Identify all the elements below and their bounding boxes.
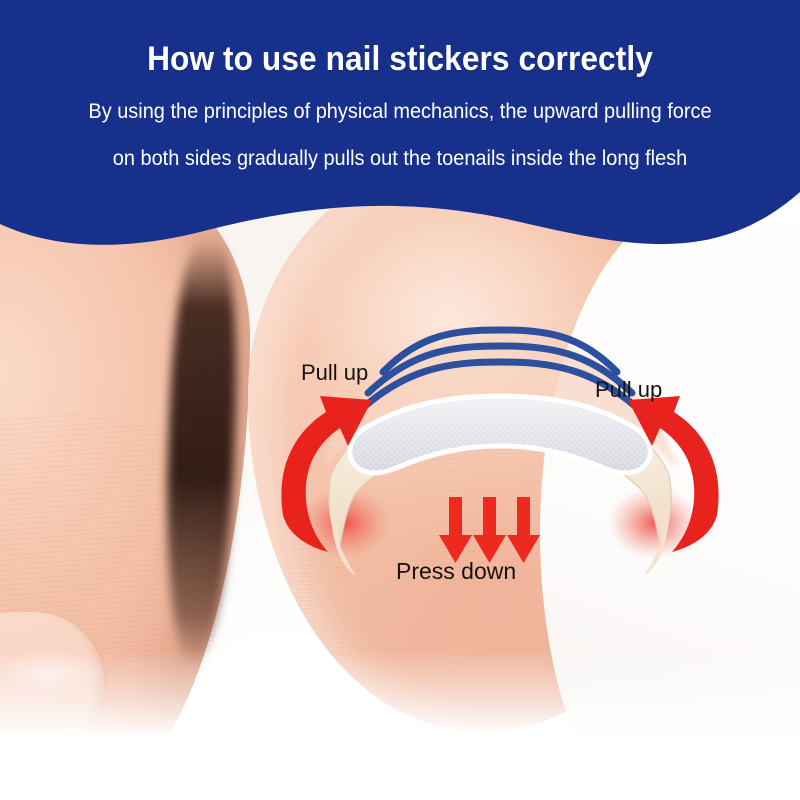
banner-subtitle-line-1: By using the principles of physical mech…: [20, 101, 780, 122]
header-banner: How to use nail stickers correctly By us…: [0, 0, 800, 260]
page-title: How to use nail stickers correctly: [28, 40, 772, 79]
product-infographic: Pull up Pull up Press down How to use na…: [0, 0, 800, 800]
banner-subtitle-line-2: on both sides gradually pulls out the to…: [20, 148, 780, 169]
label-press-down: Press down: [396, 558, 516, 585]
label-pull-up-right: Pull up: [595, 377, 662, 403]
label-pull-up-left: Pull up: [301, 360, 368, 386]
banner-copy: How to use nail stickers correctly By us…: [0, 0, 800, 169]
